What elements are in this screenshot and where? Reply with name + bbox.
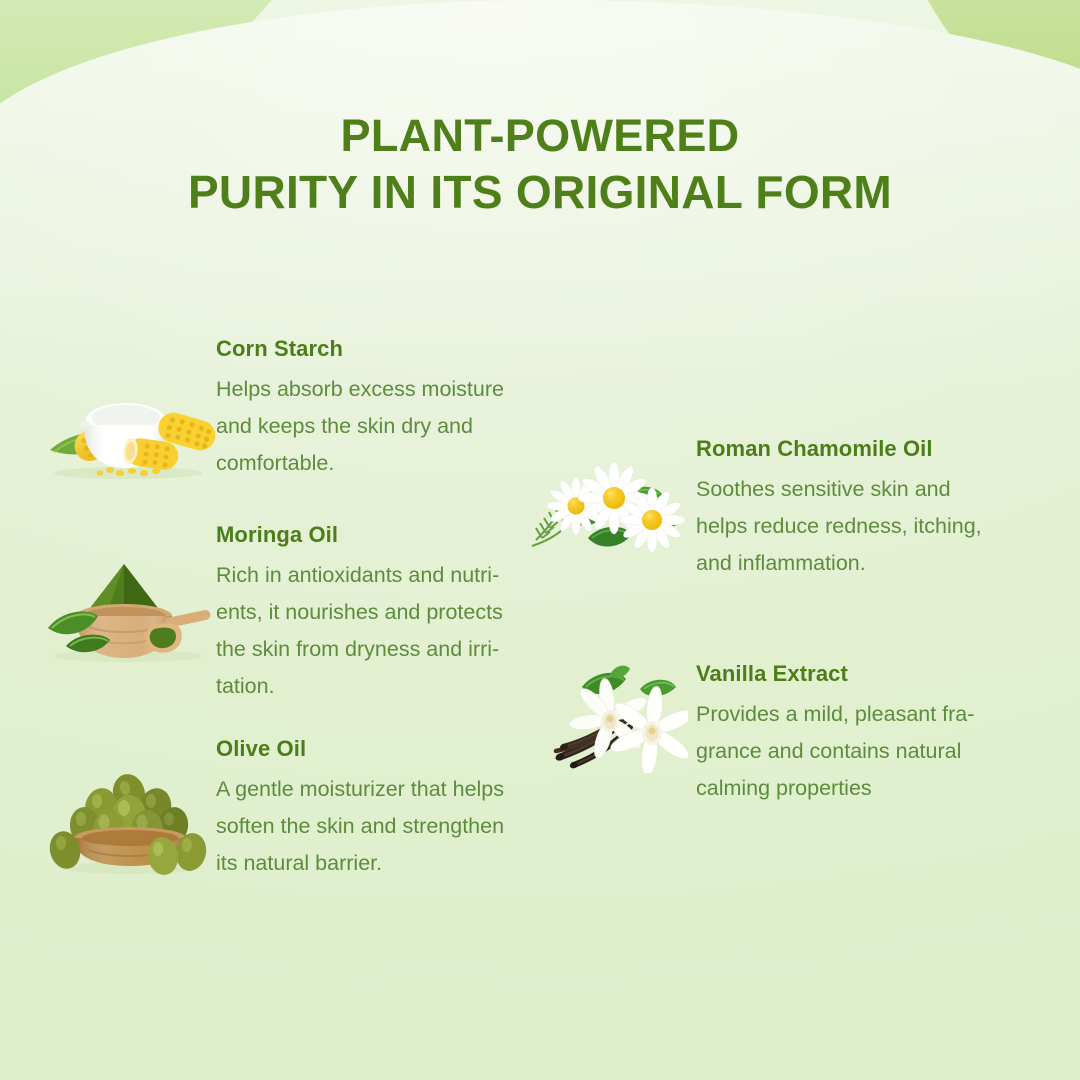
vanilla-pods-flowers-image <box>548 661 688 773</box>
chamomile-flowers-image <box>528 462 688 558</box>
ingredient-title: Vanilla Extract <box>696 661 1048 687</box>
poster-canvas: PLANT-POWERED PURITY IN ITS ORIGINAL FOR… <box>0 0 1080 1080</box>
ingredient-description: Rich in antioxidants and nutri- ents, it… <box>216 557 580 705</box>
page-title-line-2: PURITY IN ITS ORIGINAL FORM <box>0 164 1080 221</box>
ingredient-title: Corn Starch <box>216 336 580 362</box>
ingredient-description: A gentle moisturizer that helps soften t… <box>216 771 580 882</box>
description-line: grance and contains natural <box>696 733 1048 770</box>
description-line: helps reduce redness, itching, <box>696 508 1048 545</box>
description-line: Helps absorb excess moisture <box>216 371 580 408</box>
ingredient-description: Helps absorb excess moisture and keeps t… <box>216 371 580 482</box>
olives-bowl-image <box>45 772 215 876</box>
corn-starch-bowl-image <box>40 376 216 480</box>
ingredient-description: Soothes sensitive skin and helps reduce … <box>696 471 1048 582</box>
ingredient-text-moringa-oil: Moringa Oil Rich in antioxidants and nut… <box>216 522 580 705</box>
description-line: calming properties <box>696 770 1048 807</box>
poster-content: PLANT-POWERED PURITY IN ITS ORIGINAL FOR… <box>0 0 1080 1080</box>
ingredient-text-vanilla-extract: Vanilla Extract Provides a mild, pleasan… <box>696 661 1048 807</box>
ingredient-title: Olive Oil <box>216 736 580 762</box>
description-line: Provides a mild, pleasant fra- <box>696 696 1048 733</box>
description-line: A gentle moisturizer that helps <box>216 771 580 808</box>
page-title: PLANT-POWERED PURITY IN ITS ORIGINAL FOR… <box>0 108 1080 221</box>
description-line: ents, it nourishes and protects <box>216 594 580 631</box>
ingredient-title: Roman Chamomile Oil <box>696 436 1048 462</box>
moringa-powder-bowl-image <box>40 554 216 664</box>
description-line: soften the skin and strengthen <box>216 808 580 845</box>
page-title-line-1: PLANT-POWERED <box>0 108 1080 164</box>
ingredient-title: Moringa Oil <box>216 522 580 548</box>
description-line: Rich in antioxidants and nutri- <box>216 557 580 594</box>
description-line: and keeps the skin dry and <box>216 408 580 445</box>
ingredient-description: Provides a mild, pleasant fra- grance an… <box>696 696 1048 807</box>
ingredient-text-corn-starch: Corn Starch Helps absorb excess moisture… <box>216 336 580 482</box>
description-line: its natural barrier. <box>216 845 580 882</box>
description-line: comfortable. <box>216 445 580 482</box>
ingredient-text-roman-chamomile-oil: Roman Chamomile Oil Soothes sensitive sk… <box>696 436 1048 582</box>
description-line: tation. <box>216 668 580 705</box>
description-line: the skin from dryness and irri- <box>216 631 580 668</box>
ingredient-text-olive-oil: Olive Oil A gentle moisturizer that help… <box>216 736 580 882</box>
description-line: and inflammation. <box>696 545 1048 582</box>
description-line: Soothes sensitive skin and <box>696 471 1048 508</box>
